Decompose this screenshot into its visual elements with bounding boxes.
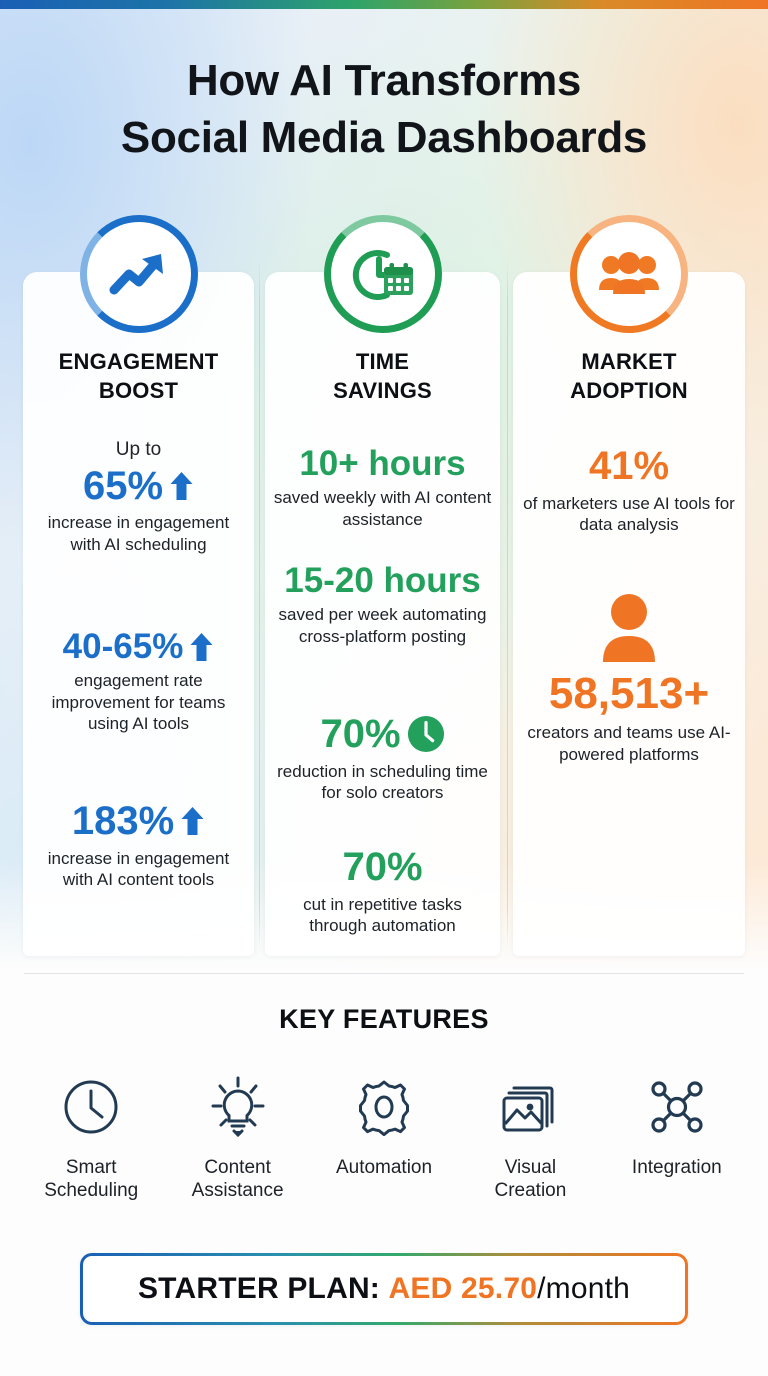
clock-badge-icon bbox=[407, 715, 445, 753]
feature-label-line2: Scheduling bbox=[18, 1179, 164, 1202]
stat-desc: cut in repetitive tasks through automati… bbox=[273, 894, 492, 937]
image-stack-icon bbox=[457, 1072, 603, 1142]
stat-item: 70% reduction in scheduling time for sol… bbox=[273, 712, 492, 804]
feature-label-line1: Smart bbox=[18, 1156, 164, 1179]
stat-value: 15-20 hours bbox=[284, 561, 480, 600]
feature-integration[interactable]: Integration bbox=[604, 1072, 750, 1202]
stat-value: 40-65% bbox=[63, 627, 184, 666]
clock-calendar-icon bbox=[324, 215, 442, 333]
stat-item: 15-20 hours saved per week automating cr… bbox=[273, 561, 492, 647]
stat-desc: creators and teams use AI-powered platfo… bbox=[521, 722, 737, 765]
stat-desc: saved weekly with AI content assistance bbox=[273, 487, 492, 530]
stat-item: 10+ hours saved weekly with AI content a… bbox=[273, 444, 492, 530]
feature-label-line2: Assistance bbox=[164, 1179, 310, 1202]
card-title-line2: ADOPTION bbox=[513, 376, 745, 405]
stat-value: 70% bbox=[320, 712, 400, 757]
stat-card-market-adoption: MARKET ADOPTION 41% of marketers use AI … bbox=[513, 272, 745, 956]
stat-item: 183% increase in engagement with AI cont… bbox=[31, 799, 246, 891]
stat-item: 40-65% engagement rate improvement for t… bbox=[31, 627, 246, 734]
page-title-line1: How AI Transforms bbox=[187, 56, 581, 105]
stat-item: 41% of marketers use AI tools for data a… bbox=[521, 444, 737, 536]
starter-plan-banner[interactable]: STARTER PLAN: AED 25.70/month bbox=[80, 1253, 688, 1325]
feature-label-line2: Creation bbox=[457, 1179, 603, 1202]
card-title-line1: TIME bbox=[265, 347, 500, 376]
stat-value-row: 58,513+ bbox=[521, 669, 737, 718]
starter-plan-period: /month bbox=[537, 1272, 630, 1305]
key-features-title: KEY FEATURES bbox=[0, 1004, 768, 1035]
stat-value-row: 70% bbox=[273, 845, 492, 890]
feature-label: Smart Scheduling bbox=[18, 1156, 164, 1202]
starter-plan-text: STARTER PLAN: AED 25.70/month bbox=[138, 1272, 630, 1306]
feature-label: Content Assistance bbox=[164, 1156, 310, 1202]
clock-icon bbox=[18, 1072, 164, 1142]
card-divider-2 bbox=[507, 260, 508, 948]
feature-label-line1: Visual bbox=[457, 1156, 603, 1179]
network-node-icon bbox=[604, 1072, 750, 1142]
arrow-up-icon bbox=[169, 471, 194, 501]
stat-value-row: 65% bbox=[31, 464, 246, 509]
feature-label-line1: Integration bbox=[604, 1156, 750, 1179]
gear-icon bbox=[311, 1072, 457, 1142]
feature-label-line1: Content bbox=[164, 1156, 310, 1179]
card-title-line1: MARKET bbox=[513, 347, 745, 376]
stat-desc: increase in engagement with AI content t… bbox=[31, 848, 246, 891]
feature-label: Integration bbox=[604, 1156, 750, 1179]
stat-eyebrow: Up to bbox=[31, 438, 246, 463]
arrow-up-icon bbox=[180, 806, 205, 836]
people-group-icon bbox=[570, 215, 688, 333]
stat-item: 70% cut in repetitive tasks through auto… bbox=[273, 845, 492, 937]
stat-desc: increase in engagement with AI schedulin… bbox=[31, 512, 246, 555]
feature-smart-scheduling[interactable]: Smart Scheduling bbox=[18, 1072, 164, 1202]
card-title-engagement-boost: ENGAGEMENT BOOST bbox=[23, 347, 254, 405]
stat-item: Up to 65% increase in engagement with AI… bbox=[31, 438, 246, 555]
stat-card-engagement-boost: ENGAGEMENT BOOST Up to 65% increase in e… bbox=[23, 272, 254, 956]
card-title-line2: SAVINGS bbox=[265, 376, 500, 405]
stat-value-row: 41% bbox=[521, 444, 737, 489]
stat-value-row: 183% bbox=[31, 799, 246, 844]
stat-value-row: 70% bbox=[273, 712, 492, 757]
trending-up-arrow-icon bbox=[80, 215, 198, 333]
page-title-line2: Social Media Dashboards bbox=[0, 109, 768, 166]
stat-item: 58,513+ creators and teams use AI-powere… bbox=[521, 592, 737, 765]
page-title: How AI Transforms Social Media Dashboard… bbox=[0, 52, 768, 166]
card-title-line2: BOOST bbox=[23, 376, 254, 405]
person-icon bbox=[597, 592, 661, 664]
stat-desc: engagement rate improvement for teams us… bbox=[31, 670, 246, 734]
feature-label: Automation bbox=[311, 1156, 457, 1179]
card-title-line1: ENGAGEMENT bbox=[23, 347, 254, 376]
stat-value-row: 10+ hours bbox=[273, 444, 492, 483]
feature-automation[interactable]: Automation bbox=[311, 1072, 457, 1202]
feature-label: Visual Creation bbox=[457, 1156, 603, 1202]
stat-value: 41% bbox=[589, 444, 669, 489]
stat-value-row: 15-20 hours bbox=[273, 561, 492, 600]
stat-desc: of marketers use AI tools for data analy… bbox=[521, 493, 737, 536]
stat-value: 65% bbox=[83, 464, 163, 509]
stat-value: 183% bbox=[72, 799, 174, 844]
feature-content-assistance[interactable]: Content Assistance bbox=[164, 1072, 310, 1202]
key-features-row: Smart Scheduling bbox=[18, 1072, 750, 1202]
lightbulb-icon bbox=[164, 1072, 310, 1142]
card-divider-1 bbox=[259, 260, 260, 948]
card-title-time-savings: TIME SAVINGS bbox=[265, 347, 500, 405]
stat-desc: reduction in scheduling time for solo cr… bbox=[273, 761, 492, 804]
stat-card-time-savings: TIME SAVINGS 10+ hours saved weekly with… bbox=[265, 272, 500, 956]
stat-value-row: 40-65% bbox=[31, 627, 246, 666]
stat-cards-row: ENGAGEMENT BOOST Up to 65% increase in e… bbox=[23, 272, 745, 956]
starter-plan-prefix: STARTER PLAN: bbox=[138, 1272, 389, 1305]
feature-visual-creation[interactable]: Visual Creation bbox=[457, 1072, 603, 1202]
section-divider bbox=[24, 973, 744, 974]
top-gradient-bar bbox=[0, 0, 768, 9]
stat-desc: saved per week automating cross-platform… bbox=[273, 604, 492, 647]
infographic-page: How AI Transforms Social Media Dashboard… bbox=[0, 0, 768, 1376]
starter-plan-price: AED 25.70 bbox=[389, 1272, 538, 1305]
stat-value: 58,513+ bbox=[549, 669, 709, 718]
stat-value: 70% bbox=[342, 845, 422, 890]
stat-value: 10+ hours bbox=[299, 444, 465, 483]
arrow-up-icon bbox=[189, 632, 214, 662]
feature-label-line1: Automation bbox=[311, 1156, 457, 1179]
card-title-market-adoption: MARKET ADOPTION bbox=[513, 347, 745, 405]
